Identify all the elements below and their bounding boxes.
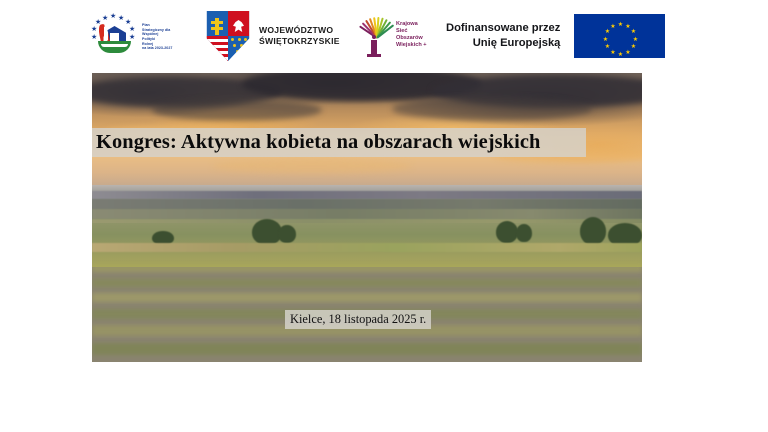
cloud-shape	[152, 99, 322, 121]
logo-ps-wpr-text: Plan Strategiczny dla Wspólnej Polityki …	[142, 23, 172, 51]
european-union-flag-icon: ★ ★ ★ ★ ★ ★ ★ ★ ★ ★ ★ ★	[574, 14, 665, 58]
hill-ridge	[92, 191, 642, 199]
logo-ps-wpr: ★ ★ ★ ★ ★ ★ ★ ★ ★ Plan Strategiczny dla …	[90, 14, 172, 60]
logo-wojewodztwo-text: WOJEWÓDZTWO ŚWIĘTOKRZYSKIE	[259, 25, 340, 47]
poster-date-text: Kielce, 18 listopada 2025 r.	[290, 311, 426, 327]
page-title: Kongres: Aktywna kobieta na obszarach wi…	[96, 130, 586, 154]
tree-shape	[496, 221, 518, 243]
header-logo-strip: ★ ★ ★ ★ ★ ★ ★ ★ ★ Plan Strategiczny dla …	[0, 0, 768, 73]
eu-funding-line-2: Unię Europejską	[446, 36, 560, 51]
logo-ksow-plus: Krajowa Sieć Obszarów Wiejskich +	[361, 11, 427, 59]
wheat-streak	[92, 343, 642, 355]
logo-ksow-line-1: Krajowa	[396, 21, 427, 28]
poster-title-band: Kongres: Aktywna kobieta na obszarach wi…	[92, 128, 586, 157]
herb-double-cross-icon	[215, 18, 219, 35]
hill-ridge	[92, 209, 642, 219]
hill-ridge	[92, 199, 642, 209]
tree-shape	[516, 224, 532, 242]
herb-stripes	[206, 36, 228, 61]
logo-woj-line-2: ŚWIĘTOKRZYSKIE	[259, 36, 340, 47]
cloud-shape	[392, 97, 592, 121]
wheat-streak	[92, 279, 642, 287]
eu-funding-line-1: Dofinansowane przez	[446, 21, 560, 36]
logo-ps-wpr-line-6: na lata 2023-2027	[142, 46, 172, 51]
midfield-strip	[92, 243, 642, 252]
swietokrzyskie-coat-of-arms-icon	[206, 11, 250, 61]
logo-woj-line-1: WOJEWÓDZTWO	[259, 25, 340, 36]
ps-wpr-emblem-icon: ★ ★ ★ ★ ★ ★ ★ ★ ★	[90, 14, 138, 60]
herb-star-dots	[228, 36, 250, 61]
tree-shape	[278, 225, 296, 243]
ksow-fan-rays	[363, 11, 391, 38]
logo-eu-funding: Dofinansowane przez Unię Europejską ★ ★ …	[446, 14, 665, 58]
logo-ksow-text: Krajowa Sieć Obszarów Wiejskich +	[396, 21, 427, 50]
eu-funding-text: Dofinansowane przez Unię Europejską	[446, 21, 560, 51]
logo-ksow-line-2: Sieć	[396, 28, 427, 35]
wheat-streak	[92, 293, 642, 302]
poster-date-band: Kielce, 18 listopada 2025 r.	[285, 310, 431, 329]
logo-wojewodztwo-swietokrzyskie: WOJEWÓDZTWO ŚWIĘTOKRZYSKIE	[206, 11, 340, 61]
logo-ksow-line-3: Obszarów	[396, 35, 427, 42]
tree-shape	[580, 217, 606, 245]
wheat-streak	[92, 265, 642, 272]
poster-photograph: Kongres: Aktywna kobieta na obszarach wi…	[92, 73, 642, 362]
ksow-i-dot	[372, 35, 376, 39]
ksow-plus-fan-emblem-icon	[361, 11, 391, 59]
cloud-shape	[212, 159, 412, 173]
logo-ksow-line-4: Wiejskich +	[396, 42, 427, 49]
ksow-i-stem	[371, 40, 377, 57]
